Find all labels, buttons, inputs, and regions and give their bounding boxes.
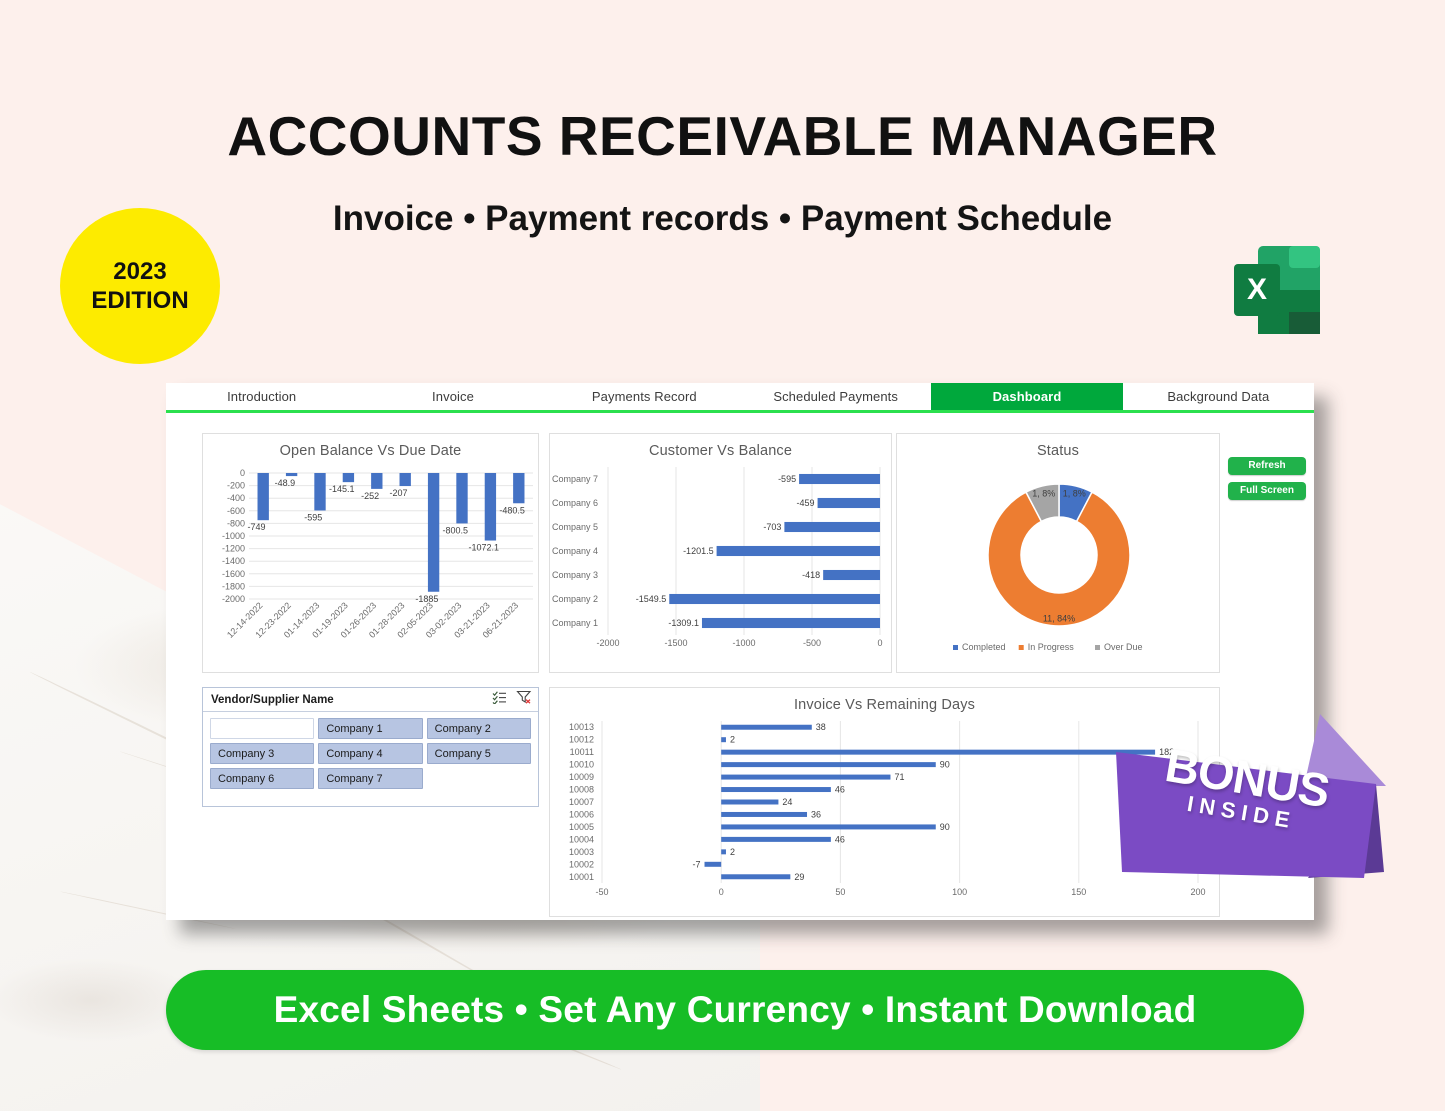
svg-text:-480.5: -480.5 [499, 505, 525, 515]
edition-badge-year: 2023 [113, 257, 166, 286]
chart-title-status: Status [897, 434, 1219, 459]
refresh-button[interactable]: Refresh [1228, 457, 1306, 475]
page-title: ACCOUNTS RECEIVABLE MANAGER [0, 104, 1445, 168]
status-donut-plot: 1, 8%11, 84%1, 8%CompletedIn ProgressOve… [897, 459, 1221, 667]
svg-text:-1072.1: -1072.1 [468, 543, 499, 553]
svg-text:150: 150 [1071, 887, 1086, 897]
tab-scheduled-payments[interactable]: Scheduled Payments [740, 383, 931, 410]
svg-text:10012: 10012 [569, 735, 594, 745]
slicer-item-company-2[interactable]: Company 2 [427, 718, 531, 739]
svg-text:-459: -459 [797, 498, 815, 508]
tab-invoice[interactable]: Invoice [357, 383, 548, 410]
svg-text:-207: -207 [390, 488, 408, 498]
chart-title-invoice-remaining: Invoice Vs Remaining Days [550, 688, 1219, 713]
svg-text:10007: 10007 [569, 797, 594, 807]
svg-text:-1500: -1500 [664, 638, 687, 648]
svg-text:2: 2 [730, 847, 735, 857]
svg-text:Company 6: Company 6 [552, 498, 598, 508]
full-screen-button[interactable]: Full Screen [1228, 482, 1306, 500]
svg-text:0: 0 [719, 887, 724, 897]
slicer-item-company-7[interactable]: Company 7 [318, 768, 422, 789]
svg-text:0: 0 [240, 468, 245, 478]
svg-text:11, 84%: 11, 84% [1043, 614, 1075, 624]
chart-customer-vs-balance: Customer Vs Balance -2000-1500-1000-5000… [549, 433, 892, 673]
slicer-item-company-4[interactable]: Company 4 [318, 743, 422, 764]
svg-text:Company 2: Company 2 [552, 594, 598, 604]
svg-text:-418: -418 [802, 570, 820, 580]
svg-text:Completed: Completed [962, 642, 1006, 652]
svg-text:-400: -400 [227, 493, 245, 503]
svg-text:10005: 10005 [569, 822, 594, 832]
slicer-item-company-1[interactable]: Company 1 [318, 718, 422, 739]
svg-text:Company 1: Company 1 [552, 618, 598, 628]
slicer-item-company-3[interactable]: Company 3 [210, 743, 314, 764]
svg-text:200: 200 [1190, 887, 1205, 897]
svg-text:10011: 10011 [570, 747, 594, 757]
chart-status: Status 1, 8%11, 84%1, 8%CompletedIn Prog… [896, 433, 1220, 673]
svg-text:Company 7: Company 7 [552, 474, 598, 484]
svg-text:-48.9: -48.9 [275, 478, 296, 488]
svg-text:X: X [1247, 273, 1267, 306]
svg-text:46: 46 [835, 834, 845, 844]
svg-text:-2000: -2000 [222, 594, 245, 604]
svg-text:90: 90 [940, 822, 950, 832]
slicer-header-icons [492, 690, 532, 709]
svg-text:-252: -252 [361, 491, 379, 501]
slicer-item-company-6[interactable]: Company 6 [210, 768, 314, 789]
slicer-item-blank[interactable] [210, 718, 314, 739]
svg-text:Company 5: Company 5 [552, 522, 598, 532]
svg-text:-800: -800 [227, 518, 245, 528]
svg-text:Company 3: Company 3 [552, 570, 598, 580]
svg-text:Over Due: Over Due [1104, 642, 1143, 652]
svg-text:-1600: -1600 [222, 569, 245, 579]
svg-text:-500: -500 [803, 638, 821, 648]
svg-text:-595: -595 [778, 474, 796, 484]
svg-text:10004: 10004 [569, 834, 594, 844]
svg-text:-1400: -1400 [222, 556, 245, 566]
slicer-vendor-supplier-name[interactable]: Vendor/Supplier Name [202, 687, 539, 807]
svg-text:24: 24 [782, 797, 792, 807]
svg-text:71: 71 [894, 772, 904, 782]
tab-introduction[interactable]: Introduction [166, 383, 357, 410]
svg-text:10013: 10013 [569, 722, 594, 732]
svg-text:46: 46 [835, 785, 845, 795]
svg-text:-7: -7 [692, 859, 700, 869]
bonus-inside-badge: BONUS INSIDE [1108, 712, 1386, 888]
svg-text:0: 0 [877, 638, 882, 648]
svg-text:10001: 10001 [569, 872, 594, 882]
svg-text:-800.5: -800.5 [443, 525, 469, 535]
svg-text:-2000: -2000 [596, 638, 619, 648]
svg-text:-600: -600 [227, 506, 245, 516]
svg-text:In Progress: In Progress [1028, 642, 1075, 652]
svg-text:38: 38 [816, 722, 826, 732]
multi-select-icon[interactable] [492, 691, 507, 709]
svg-text:-50: -50 [595, 887, 608, 897]
page-subtitle: Invoice • Payment records • Payment Sche… [0, 199, 1445, 239]
excel-logo-icon: X [1232, 240, 1324, 340]
svg-text:-703: -703 [763, 522, 781, 532]
svg-text:100: 100 [952, 887, 967, 897]
svg-text:-1201.5: -1201.5 [683, 546, 714, 556]
dashboard-action-buttons: Refresh Full Screen [1228, 457, 1306, 507]
svg-text:-1000: -1000 [222, 531, 245, 541]
svg-text:-749: -749 [248, 522, 266, 532]
svg-text:29: 29 [794, 872, 804, 882]
svg-text:Company 4: Company 4 [552, 546, 598, 556]
edition-badge: 2023 EDITION [60, 208, 220, 364]
svg-text:-1549.5: -1549.5 [636, 594, 667, 604]
svg-text:-145.1: -145.1 [329, 484, 355, 494]
footer-cta-label: Excel Sheets • Set Any Currency • Instan… [274, 989, 1197, 1031]
svg-text:10002: 10002 [569, 859, 594, 869]
sheet-tab-bar: Introduction Invoice Payments Record Sch… [166, 383, 1314, 413]
svg-text:-1800: -1800 [222, 581, 245, 591]
customer-balance-plot: -2000-1500-1000-5000-1309.1Company 1-154… [550, 459, 893, 667]
chart-title-open-balance: Open Balance Vs Due Date [203, 434, 538, 459]
svg-text:10010: 10010 [569, 760, 594, 770]
svg-text:2: 2 [730, 735, 735, 745]
footer-cta-banner[interactable]: Excel Sheets • Set Any Currency • Instan… [166, 970, 1304, 1050]
svg-text:36: 36 [811, 809, 821, 819]
svg-text:10008: 10008 [569, 785, 594, 795]
slicer-title: Vendor/Supplier Name [211, 694, 492, 706]
svg-text:-1000: -1000 [732, 638, 755, 648]
svg-text:50: 50 [835, 887, 845, 897]
svg-text:90: 90 [940, 760, 950, 770]
svg-text:-1200: -1200 [222, 544, 245, 554]
svg-text:10003: 10003 [569, 847, 594, 857]
svg-text:1, 8%: 1, 8% [1032, 488, 1055, 498]
tab-dashboard[interactable]: Dashboard [931, 383, 1122, 410]
chart-title-customer-balance: Customer Vs Balance [550, 434, 891, 459]
svg-text:1, 8%: 1, 8% [1063, 488, 1086, 498]
edition-badge-label: EDITION [91, 286, 188, 315]
tab-payments-record[interactable]: Payments Record [549, 383, 740, 410]
slicer-header: Vendor/Supplier Name [203, 688, 538, 712]
svg-text:-1309.1: -1309.1 [668, 618, 699, 628]
svg-text:-200: -200 [227, 481, 245, 491]
chart-open-balance-vs-due-date: Open Balance Vs Due Date 0-200-400-600-8… [202, 433, 539, 673]
tab-background-data[interactable]: Background Data [1123, 383, 1314, 410]
svg-text:10009: 10009 [569, 772, 594, 782]
slicer-item-company-5[interactable]: Company 5 [427, 743, 531, 764]
clear-filter-icon[interactable] [516, 690, 532, 709]
slicer-items: Company 1 Company 2 Company 3 Company 4 … [203, 712, 538, 795]
open-balance-plot: 0-200-400-600-800-1000-1200-1400-1600-18… [203, 459, 540, 667]
svg-text:-595: -595 [304, 512, 322, 522]
svg-text:10006: 10006 [569, 809, 594, 819]
